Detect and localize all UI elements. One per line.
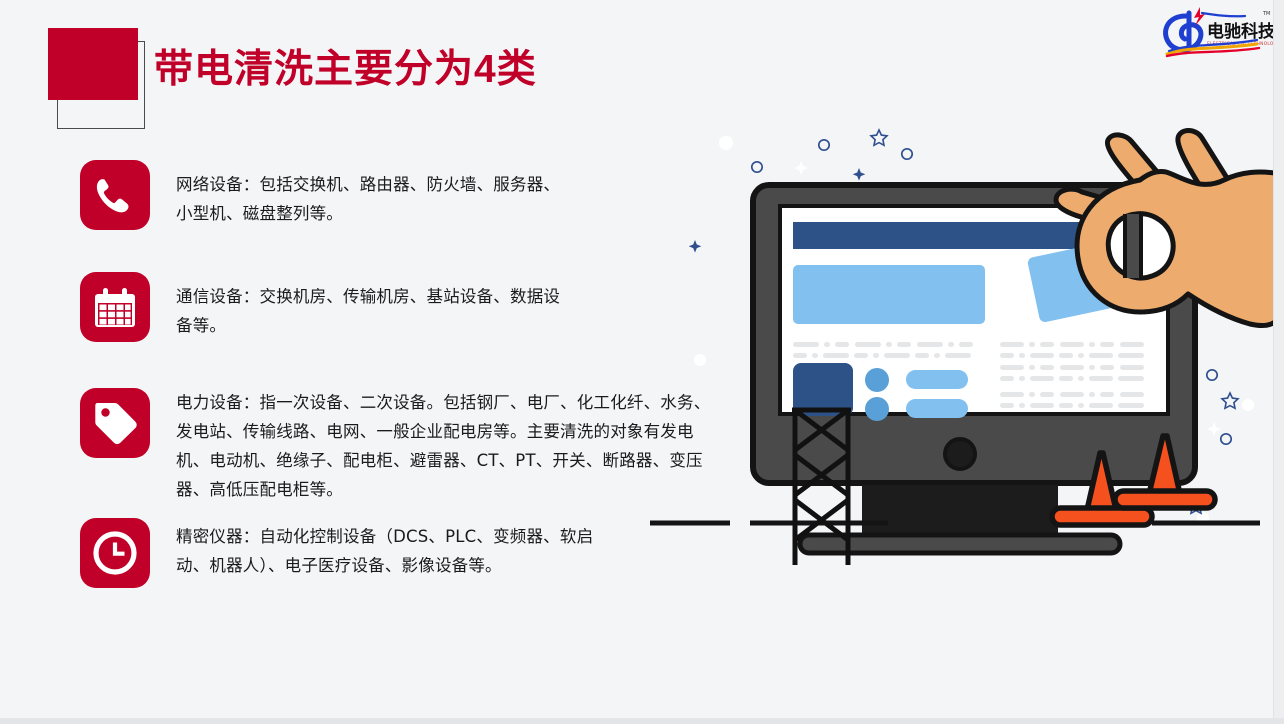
phone-icon xyxy=(80,160,150,230)
title-badge-fill xyxy=(48,28,138,100)
slide-canvas: 电驰科技 ELECTRICAL CHI TECHNOLOGY TM 带电清洗主要… xyxy=(0,0,1273,718)
list-item-text: 精密仪器：自动化控制设备（DCS、PLC、变频器、软启动、机器人）、电子医疗设备… xyxy=(176,518,596,588)
list-item[interactable]: 通信设备：交换机房、传输机房、基站设备、数据设备等。 xyxy=(80,272,576,342)
list-item[interactable]: 电力设备：指一次设备、二次设备。包括钢厂、电厂、化工化纤、水务、发电站、传输线路… xyxy=(80,388,721,504)
illustration xyxy=(640,110,1273,580)
page-title-block: 带电清洗主要分为4类 xyxy=(48,28,668,118)
clock-icon xyxy=(80,518,150,588)
logo-wordmark: 电驰科技 xyxy=(1207,21,1273,42)
page-title: 带电清洗主要分为4类 xyxy=(154,42,537,98)
tag-icon xyxy=(80,388,150,458)
list-item-text: 网络设备：包括交换机、路由器、防火墙、服务器、小型机、磁盘整列等。 xyxy=(176,160,576,230)
list-item[interactable]: 精密仪器：自动化控制设备（DCS、PLC、变频器、软启动、机器人）、电子医疗设备… xyxy=(80,518,596,588)
list-item-text: 通信设备：交换机房、传输机房、基站设备、数据设备等。 xyxy=(176,272,576,342)
calendar-icon xyxy=(80,272,150,342)
scrollbar-gutter[interactable] xyxy=(1273,0,1284,724)
company-logo: 电驰科技 ELECTRICAL CHI TECHNOLOGY TM xyxy=(1153,4,1273,58)
window-bottom-edge xyxy=(0,718,1284,724)
list-item[interactable]: 网络设备：包括交换机、路由器、防火墙、服务器、小型机、磁盘整列等。 xyxy=(80,160,576,230)
trademark-symbol: TM xyxy=(1262,11,1270,17)
